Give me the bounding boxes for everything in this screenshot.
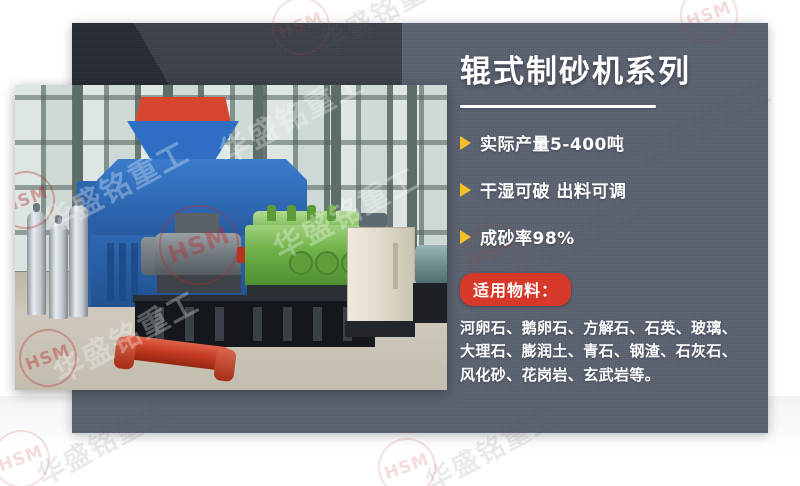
list-item: 干湿可破 出料可调 — [460, 177, 760, 202]
photo-gas-cylinder — [27, 211, 46, 315]
photo-skid-slot — [185, 307, 194, 341]
photo-gas-cylinder — [69, 205, 88, 317]
photo-cylinder-neck — [33, 203, 40, 212]
title-divider — [460, 105, 656, 108]
applicable-materials-text: 河卵石、鹅卵石、方解石、石英、玻璃、大理石、膨润土、青石、钢渣、石灰石、风化砂、… — [460, 317, 748, 387]
photo-right-motor — [415, 245, 447, 285]
photo-gearbox-fin — [307, 205, 316, 221]
page-title: 辊式制砂机系列 — [460, 55, 760, 89]
product-photo: HSM 华盛铭重工 HSM 华盛铭重工 华盛铭重工 华盛铭重工 HSM — [15, 85, 447, 390]
list-item: 实际产量5-400吨 — [460, 130, 760, 155]
photo-machine-rib — [119, 243, 126, 301]
photo-skid-slot — [155, 307, 164, 341]
bullet-label: 成砂率98% — [480, 224, 575, 249]
applicable-materials-badge: 适用物料： — [460, 273, 571, 306]
photo-cylinder-neck — [55, 215, 62, 224]
photo-cylinder-neck — [75, 197, 82, 206]
photo-gearbox-fin — [327, 205, 336, 221]
photo-machine-rib — [107, 243, 114, 301]
bullet-label: 实际产量5-400吨 — [480, 130, 624, 155]
photo-electric-motor — [155, 233, 241, 279]
photo-gearbox-port — [289, 251, 313, 275]
photo-machine-rib — [131, 243, 138, 301]
arrow-right-icon — [460, 136, 471, 150]
photo-motor-base — [157, 275, 241, 293]
photo-skid-slot — [283, 307, 292, 341]
photo-right-motor-base — [413, 283, 447, 323]
photo-shaft-flange — [213, 348, 237, 382]
feature-bullet-list: 实际产量5-400吨 干湿可破 出料可调 成砂率98% — [460, 130, 760, 249]
photo-motor-terminal-box — [175, 213, 219, 235]
photo-skid-slot — [253, 307, 262, 341]
photo-gearbox-fin — [267, 205, 276, 221]
photo-gearbox-port — [315, 251, 339, 275]
photo-skid-slot — [313, 307, 322, 341]
arrow-right-icon — [460, 230, 471, 244]
photo-control-cabinet — [347, 227, 415, 325]
photo-gas-cylinder — [49, 223, 68, 319]
photo-cabinet-base — [345, 321, 415, 337]
photo-gearbox-fin — [287, 205, 296, 221]
feature-content: 辊式制砂机系列 实际产量5-400吨 干湿可破 出料可调 成砂率98% 适用物料… — [460, 55, 760, 387]
bullet-label: 干湿可破 出料可调 — [480, 177, 626, 202]
photo-shaft-flange — [113, 336, 137, 370]
photo-cabinet-vent — [393, 243, 398, 289]
photo-skid-slot — [215, 307, 224, 341]
photo-machine-hopper — [135, 97, 231, 123]
list-item: 成砂率98% — [460, 224, 760, 249]
photo-cabinet-top-unit — [359, 213, 387, 228]
arrow-right-icon — [460, 183, 471, 197]
poster-canvas: HSM 华盛铭重工 HSM 华盛铭重工 华盛铭重工 — [0, 0, 800, 486]
